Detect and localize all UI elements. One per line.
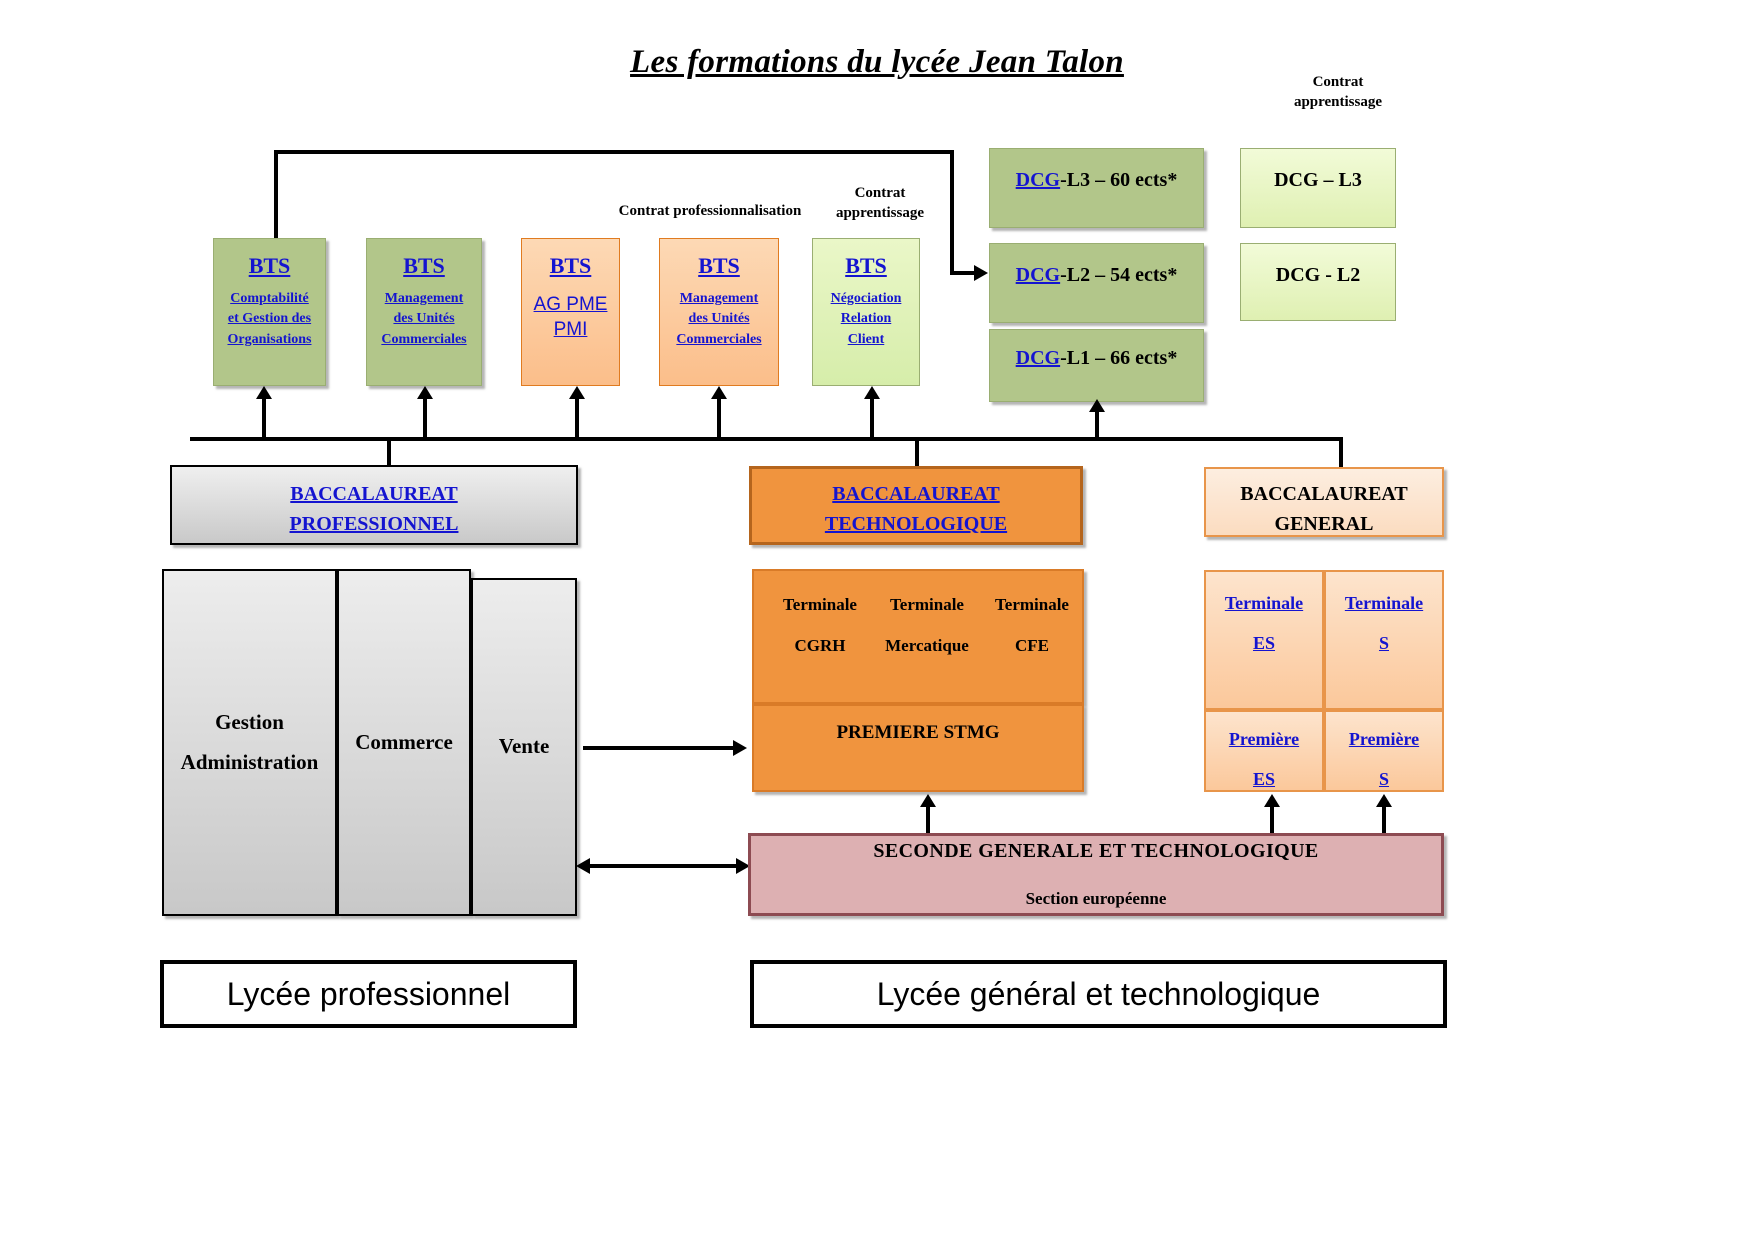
bts-subtitle-line: Commerciales: [381, 330, 466, 350]
bts-subtitle-line: Management: [676, 289, 761, 309]
connector-bus-riser-bactech: [915, 437, 919, 467]
bts-title: BTS: [698, 253, 740, 279]
terminale-cfe: Terminale CFE: [984, 585, 1080, 667]
bts-box-muc-orange[interactable]: BTS Management des Unités Commerciales: [659, 238, 779, 386]
bts-subtitle-line: Commerciales: [676, 330, 761, 350]
bts-subtitle-line: Client: [831, 330, 902, 350]
dcg-box-l2-ects[interactable]: DCG-L2 – 54 ects*: [989, 243, 1204, 323]
bts-subtitle-line: PMI: [534, 318, 608, 343]
dcg-prefix: DCG: [1016, 347, 1060, 369]
connector-to-bts-4-arrow: [711, 386, 727, 399]
seconde-title: SECONDE GENERALE ET TECHNOLOGIQUE: [873, 840, 1318, 863]
bts-title: BTS: [403, 253, 445, 279]
terminale-line: CGRH: [770, 626, 870, 667]
connector-bus-riser-bacpro: [387, 437, 391, 467]
connector-vente-to-stmg: [583, 746, 735, 750]
seconde-subtitle: Section européenne: [1026, 889, 1167, 909]
pro-column-vente[interactable]: Vente: [471, 578, 577, 916]
connector-seconde-to-premiere-s-arrow: [1376, 794, 1392, 807]
annotation-line-1: Contrat: [1258, 72, 1418, 92]
connector-bts-to-dcg-left-vertical: [274, 150, 278, 244]
bts-box-ag-pme-pmi[interactable]: BTS AG PME PMI: [521, 238, 620, 386]
pro-column-line: Gestion: [181, 703, 319, 743]
terminale-cgrh: Terminale CGRH: [770, 585, 870, 667]
bts-subtitle-line: Management: [381, 289, 466, 309]
connector-to-bts-1: [262, 395, 266, 439]
dcg-rest: -L2 – 54 ects*: [1060, 264, 1177, 286]
bts-subtitle-line: Négociation: [831, 289, 902, 309]
dcg-box-l3-apprentissage[interactable]: DCG – L3: [1240, 148, 1396, 228]
terminale-line: Terminale: [770, 585, 870, 626]
connector-to-bts-5: [870, 395, 874, 439]
terminales-stmg-box[interactable]: Terminale CGRH Terminale Mercatique Term…: [752, 569, 1084, 704]
connector-to-bts-3-arrow: [569, 386, 585, 399]
terminale-s-line: Terminale: [1345, 584, 1423, 624]
annotation-contrat-apprentissage-top: Contrat apprentissage: [1258, 72, 1418, 113]
premiere-es-box[interactable]: Première ES: [1204, 710, 1324, 792]
bts-title: BTS: [550, 253, 592, 279]
page-title: Les formations du lycée Jean Talon: [0, 44, 1754, 81]
seconde-generale-box[interactable]: SECONDE GENERALE ET TECHNOLOGIQUE Sectio…: [748, 833, 1444, 916]
connector-seconde-to-premiere-es-arrow: [1264, 794, 1280, 807]
dcg-box-l3-ects[interactable]: DCG-L3 – 60 ects*: [989, 148, 1204, 228]
bts-subtitle-line: Comptabilité: [227, 289, 311, 309]
connector-to-bts-1-arrow: [256, 386, 272, 399]
bts-subtitle-line: Relation: [831, 309, 902, 329]
connector-pro-seconde-arrow-left: [576, 858, 590, 874]
dcg-label: DCG-L1 – 66 ects*: [1016, 347, 1178, 370]
premiere-s-line: Première: [1349, 720, 1419, 760]
terminale-s-line: S: [1379, 624, 1389, 664]
connector-seconde-to-stmg-arrow: [920, 794, 936, 807]
connector-to-bts-4: [717, 395, 721, 439]
dcg-rest: -L3 – 60 ects*: [1060, 169, 1177, 191]
pro-column-label: Commerce: [355, 723, 453, 763]
annotation-line-2: apprentissage: [800, 203, 960, 223]
connector-to-bts-5-arrow: [864, 386, 880, 399]
bac-label-line: BACCALAUREAT: [1240, 479, 1407, 509]
annotation-contrat-apprentissage-bts: Contrat apprentissage: [800, 183, 960, 224]
terminale-line: Terminale: [872, 585, 982, 626]
connector-bts-to-dcg-right-vertical: [950, 150, 954, 273]
bts-subtitle: Comptabilité et Gestion des Organisation…: [227, 289, 311, 350]
bts-subtitle-line: des Unités: [381, 309, 466, 329]
bts-box-cgo[interactable]: BTS Comptabilité et Gestion des Organisa…: [213, 238, 326, 386]
connector-to-bts-2-arrow: [417, 386, 433, 399]
annotation-line-1: Contrat: [800, 183, 960, 203]
bac-label-line: BACCALAUREAT: [290, 479, 459, 509]
connector-to-bts-2: [423, 395, 427, 439]
dcg-label: DCG - L2: [1276, 264, 1360, 287]
bts-subtitle-line: et Gestion des: [227, 309, 311, 329]
footer-lycee-professionnel[interactable]: Lycée professionnel: [160, 960, 577, 1028]
terminale-mercatique: Terminale Mercatique: [872, 585, 982, 667]
bts-subtitle-line: Organisations: [227, 330, 311, 350]
premiere-stmg-box[interactable]: PREMIERE STMG: [752, 704, 1084, 792]
bts-subtitle-line: des Unités: [676, 309, 761, 329]
dcg-label: DCG – L3: [1274, 169, 1362, 192]
premiere-stmg-label: PREMIERE STMG: [836, 722, 999, 744]
connector-to-dcg-l1: [1095, 408, 1099, 439]
bts-box-muc-green[interactable]: BTS Management des Unités Commerciales: [366, 238, 482, 386]
connector-to-dcg-l1-arrow: [1089, 399, 1105, 412]
connector-to-bts-3: [575, 395, 579, 439]
dcg-box-l1-ects[interactable]: DCG-L1 – 66 ects*: [989, 329, 1204, 402]
connector-vente-to-stmg-arrow: [733, 740, 747, 756]
bts-box-nrc[interactable]: BTS Négociation Relation Client: [812, 238, 920, 386]
pro-column-label: Vente: [499, 727, 550, 767]
bts-title: BTS: [845, 253, 887, 279]
terminale-line: CFE: [984, 626, 1080, 667]
bac-label-line: TECHNOLOGIQUE: [825, 509, 1007, 539]
dcg-prefix: DCG: [1016, 169, 1060, 191]
connector-bus-horizontal: [190, 437, 1343, 441]
bac-label: BACCALAUREAT TECHNOLOGIQUE: [825, 479, 1007, 539]
bac-label-line: BACCALAUREAT: [825, 479, 1007, 509]
bac-technologique-box[interactable]: BACCALAUREAT TECHNOLOGIQUE: [749, 466, 1083, 545]
premiere-s-box[interactable]: Première S: [1324, 710, 1444, 792]
bts-subtitle: Négociation Relation Client: [831, 289, 902, 350]
footer-lycee-general-technologique[interactable]: Lycée général et technologique: [750, 960, 1447, 1028]
premiere-es-line: Première: [1229, 720, 1299, 760]
terminale-line: Mercatique: [872, 626, 982, 667]
bac-label-line: PROFESSIONNEL: [290, 509, 459, 539]
pro-column-line: Administration: [181, 743, 319, 783]
bts-subtitle: AG PME PMI: [534, 293, 608, 342]
bts-subtitle: Management des Unités Commerciales: [381, 289, 466, 350]
bac-general-box[interactable]: BACCALAUREAT GENERAL: [1204, 467, 1444, 537]
pro-column-label: Gestion Administration: [181, 703, 319, 783]
dcg-label: DCG-L2 – 54 ects*: [1016, 264, 1178, 287]
connector-bts-to-dcg-arrowhead: [974, 265, 988, 281]
bts-subtitle-line: AG PME: [534, 293, 608, 318]
dcg-box-l2-apprentissage[interactable]: DCG - L2: [1240, 243, 1396, 321]
footer-label: Lycée professionnel: [227, 976, 510, 1013]
connector-bus-riser-bacgen: [1339, 437, 1343, 467]
pro-column-gestion-administration[interactable]: Gestion Administration: [162, 569, 337, 916]
bac-professionnel-box[interactable]: BACCALAUREAT PROFESSIONNEL: [170, 465, 578, 545]
connector-pro-seconde: [590, 864, 740, 868]
bts-title: BTS: [249, 253, 291, 279]
bts-subtitle: Management des Unités Commerciales: [676, 289, 761, 350]
terminale-es-box[interactable]: Terminale ES: [1204, 570, 1324, 710]
dcg-label: DCG-L3 – 60 ects*: [1016, 169, 1178, 192]
dcg-rest: -L1 – 66 ects*: [1060, 347, 1177, 369]
terminale-es-line: Terminale: [1225, 584, 1303, 624]
dcg-prefix: DCG: [1016, 264, 1060, 286]
footer-label: Lycée général et technologique: [877, 976, 1321, 1013]
terminale-es-line: ES: [1253, 624, 1275, 664]
bac-label: BACCALAUREAT GENERAL: [1240, 479, 1407, 539]
connector-bts-to-dcg-horizontal: [274, 150, 954, 154]
terminale-s-box[interactable]: Terminale S: [1324, 570, 1444, 710]
pro-column-commerce[interactable]: Commerce: [337, 569, 471, 916]
bac-label: BACCALAUREAT PROFESSIONNEL: [290, 479, 459, 539]
bac-label-line: GENERAL: [1240, 509, 1407, 539]
annotation-line-2: apprentissage: [1258, 92, 1418, 112]
terminale-line: Terminale: [984, 585, 1080, 626]
